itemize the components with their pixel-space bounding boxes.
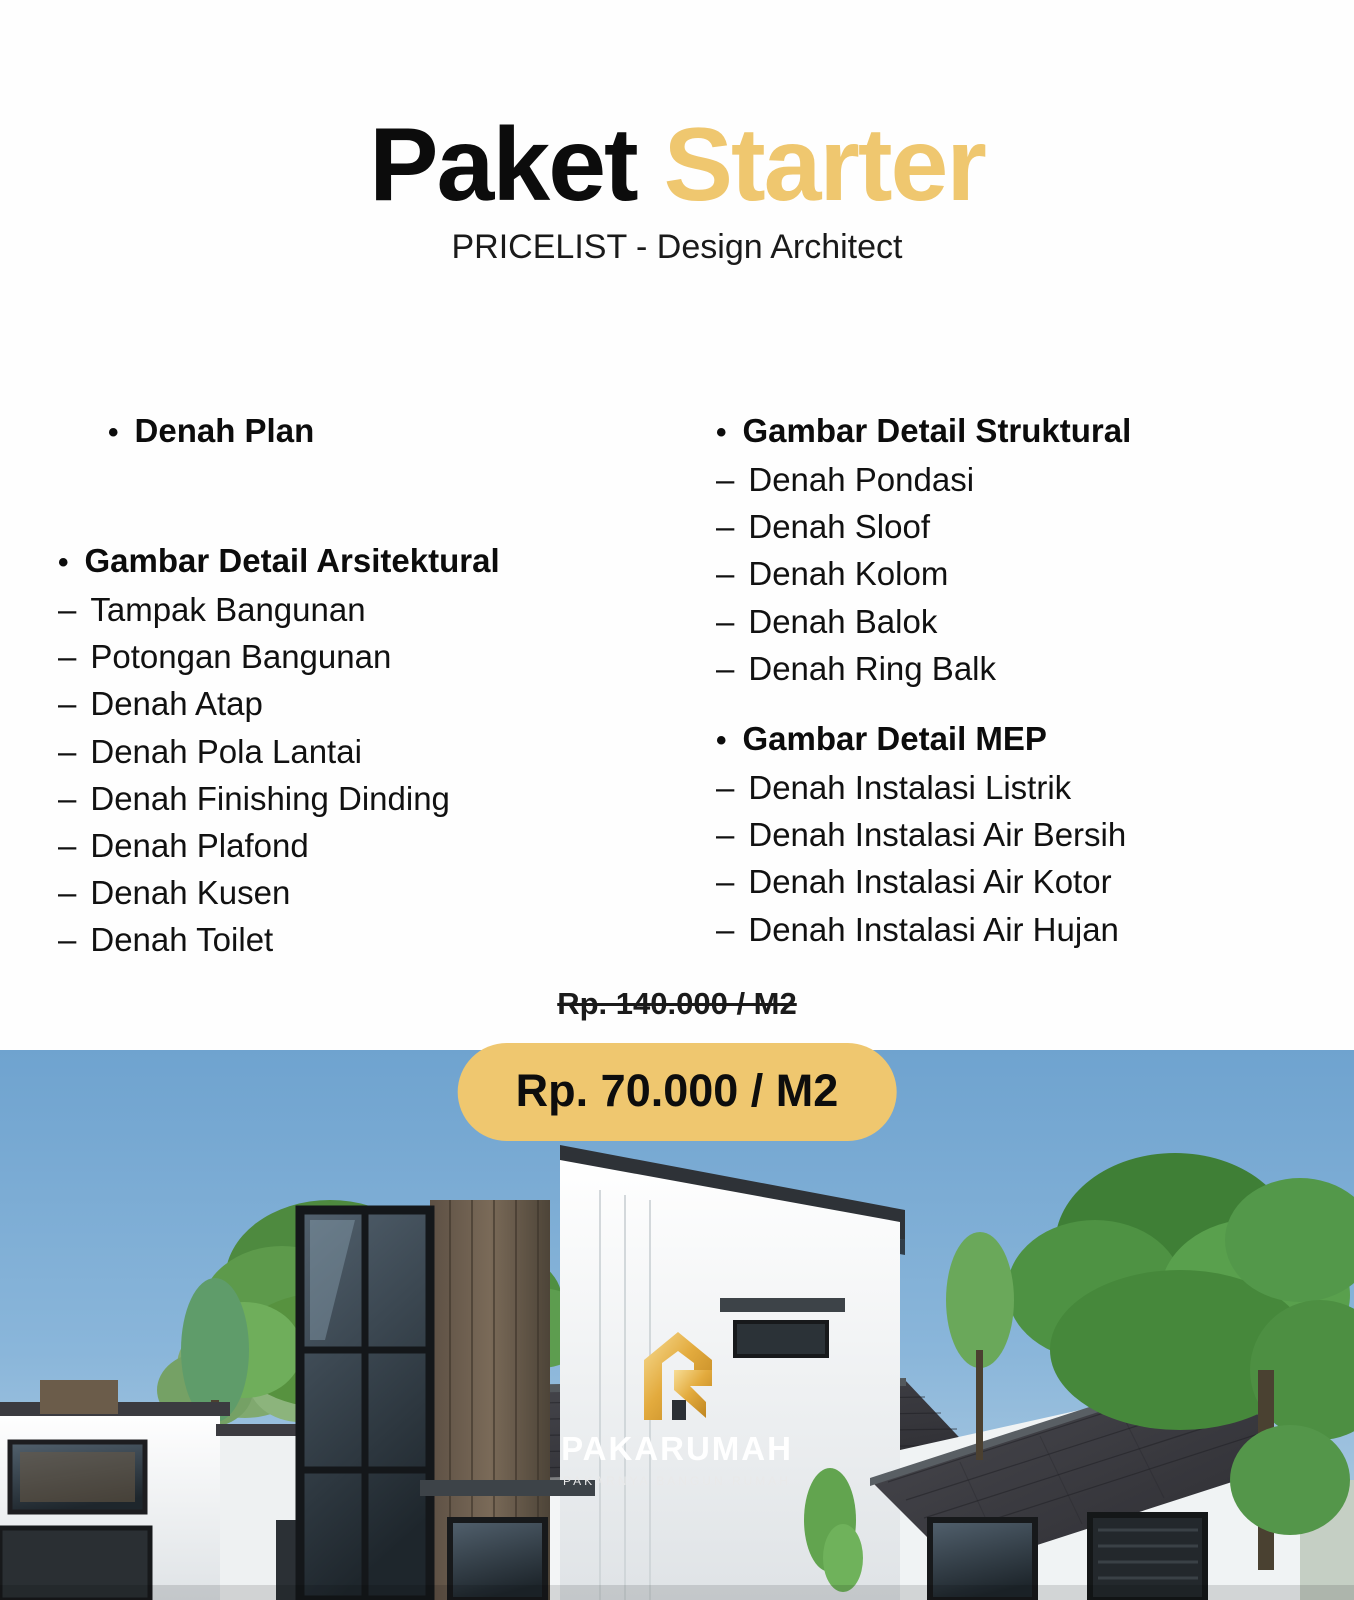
list-item-label: Denah Instalasi Air Bersih xyxy=(748,811,1126,858)
page-title: Paket Starter xyxy=(0,112,1354,218)
list-item: – Denah Plafond xyxy=(58,822,678,869)
list-item: – Denah Toilet xyxy=(58,916,678,963)
list-item: – Denah Instalasi Air Hujan xyxy=(716,906,1316,953)
group-heading-label: Gambar Detail Arsitektural xyxy=(85,542,500,580)
dash-icon: – xyxy=(716,858,734,905)
old-price: Rp. 140.000 / M2 xyxy=(0,986,1354,1022)
left-column: • Denah Plan • Gambar Detail Arsitektura… xyxy=(58,412,678,964)
dash-icon: – xyxy=(716,906,734,953)
list-item-label: Denah Pola Lantai xyxy=(90,728,362,775)
logo-tagline: PAKARNYA BANGUN RUMAH xyxy=(517,1474,837,1488)
list-item-label: Denah Kolom xyxy=(748,550,948,597)
dash-icon: – xyxy=(58,775,76,822)
list-item-label: Denah Finishing Dinding xyxy=(90,775,450,822)
list-item: – Denah Pondasi xyxy=(716,456,1316,503)
dash-icon: – xyxy=(58,728,76,775)
list-item: – Denah Kusen xyxy=(58,869,678,916)
poster-root: Paket Starter PRICELIST - Design Archite… xyxy=(0,0,1354,1600)
list-item: – Denah Finishing Dinding xyxy=(58,775,678,822)
list-item-label: Denah Balok xyxy=(748,598,937,645)
group-heading-denah-plan: • Denah Plan xyxy=(108,412,678,450)
list-item-label: Denah Pondasi xyxy=(748,456,974,503)
bullet-icon: • xyxy=(108,418,119,448)
list-item-label: Denah Instalasi Air Hujan xyxy=(748,906,1119,953)
dash-icon: – xyxy=(58,586,76,633)
list-item: – Denah Sloof xyxy=(716,503,1316,550)
page-subtitle: PRICELIST - Design Architect xyxy=(0,228,1354,267)
dash-icon: – xyxy=(716,550,734,597)
content-columns: • Denah Plan • Gambar Detail Arsitektura… xyxy=(0,412,1354,1012)
header: Paket Starter PRICELIST - Design Archite… xyxy=(0,0,1354,267)
title-word-starter: Starter xyxy=(664,107,985,223)
list-item-label: Denah Atap xyxy=(90,680,262,727)
dash-icon: – xyxy=(58,822,76,869)
pakarumah-house-monogram-icon xyxy=(638,1330,716,1422)
dash-icon: – xyxy=(58,633,76,680)
group-mep: • Gambar Detail MEP – Denah Instalasi Li… xyxy=(716,720,1316,953)
list-item: – Denah Balok xyxy=(716,598,1316,645)
bullet-icon: • xyxy=(716,726,727,756)
list-item-label: Denah Ring Balk xyxy=(748,645,996,692)
dash-icon: – xyxy=(716,598,734,645)
group-heading-label: Gambar Detail MEP xyxy=(743,720,1047,758)
list-item-label: Denah Instalasi Air Kotor xyxy=(748,858,1111,905)
list-item-label: Denah Kusen xyxy=(90,869,290,916)
list-item: – Denah Instalasi Air Bersih xyxy=(716,811,1316,858)
logo-wordmark: PAKARUMAH xyxy=(517,1432,837,1465)
list-item: – Potongan Bangunan xyxy=(58,633,678,680)
group-arsitektural: • Gambar Detail Arsitektural – Tampak Ba… xyxy=(58,542,678,964)
list-item-label: Denah Sloof xyxy=(748,503,930,550)
dash-icon: – xyxy=(58,916,76,963)
group-heading-arsitektural: • Gambar Detail Arsitektural xyxy=(58,542,678,580)
group-heading-mep: • Gambar Detail MEP xyxy=(716,720,1316,758)
list-item: – Denah Pola Lantai xyxy=(58,728,678,775)
list-item: – Denah Ring Balk xyxy=(716,645,1316,692)
group-struktural: • Gambar Detail Struktural – Denah Ponda… xyxy=(716,412,1316,692)
price-badge[interactable]: Rp. 70.000 / M2 xyxy=(458,1043,897,1141)
dash-icon: – xyxy=(716,811,734,858)
dash-icon: – xyxy=(716,645,734,692)
group-heading-label: Denah Plan xyxy=(135,412,315,450)
group-heading-label: Gambar Detail Struktural xyxy=(743,412,1132,450)
list-item-label: Denah Toilet xyxy=(90,916,273,963)
group-heading-struktural: • Gambar Detail Struktural xyxy=(716,412,1316,450)
title-word-paket: Paket xyxy=(369,107,637,223)
list-item: – Denah Instalasi Listrik xyxy=(716,764,1316,811)
right-column: • Gambar Detail Struktural – Denah Ponda… xyxy=(716,412,1316,953)
list-item: – Denah Atap xyxy=(58,680,678,727)
list-item-label: Denah Instalasi Listrik xyxy=(748,764,1071,811)
watermark-logo: PAKARUMAH PAKARNYA BANGUN RUMAH xyxy=(517,1330,837,1488)
list-item: – Denah Instalasi Air Kotor xyxy=(716,858,1316,905)
bullet-icon: • xyxy=(716,418,727,448)
list-item-label: Denah Plafond xyxy=(90,822,308,869)
dash-icon: – xyxy=(716,456,734,503)
dash-icon: – xyxy=(716,503,734,550)
list-item: – Tampak Bangunan xyxy=(58,586,678,633)
spacer xyxy=(58,450,678,542)
dash-icon: – xyxy=(58,869,76,916)
list-item-label: Tampak Bangunan xyxy=(90,586,365,633)
dash-icon: – xyxy=(716,764,734,811)
dash-icon: – xyxy=(58,680,76,727)
list-item: – Denah Kolom xyxy=(716,550,1316,597)
group-denah-plan: • Denah Plan xyxy=(58,412,678,450)
spacer xyxy=(716,692,1316,720)
bullet-icon: • xyxy=(58,548,69,578)
list-item-label: Potongan Bangunan xyxy=(90,633,391,680)
